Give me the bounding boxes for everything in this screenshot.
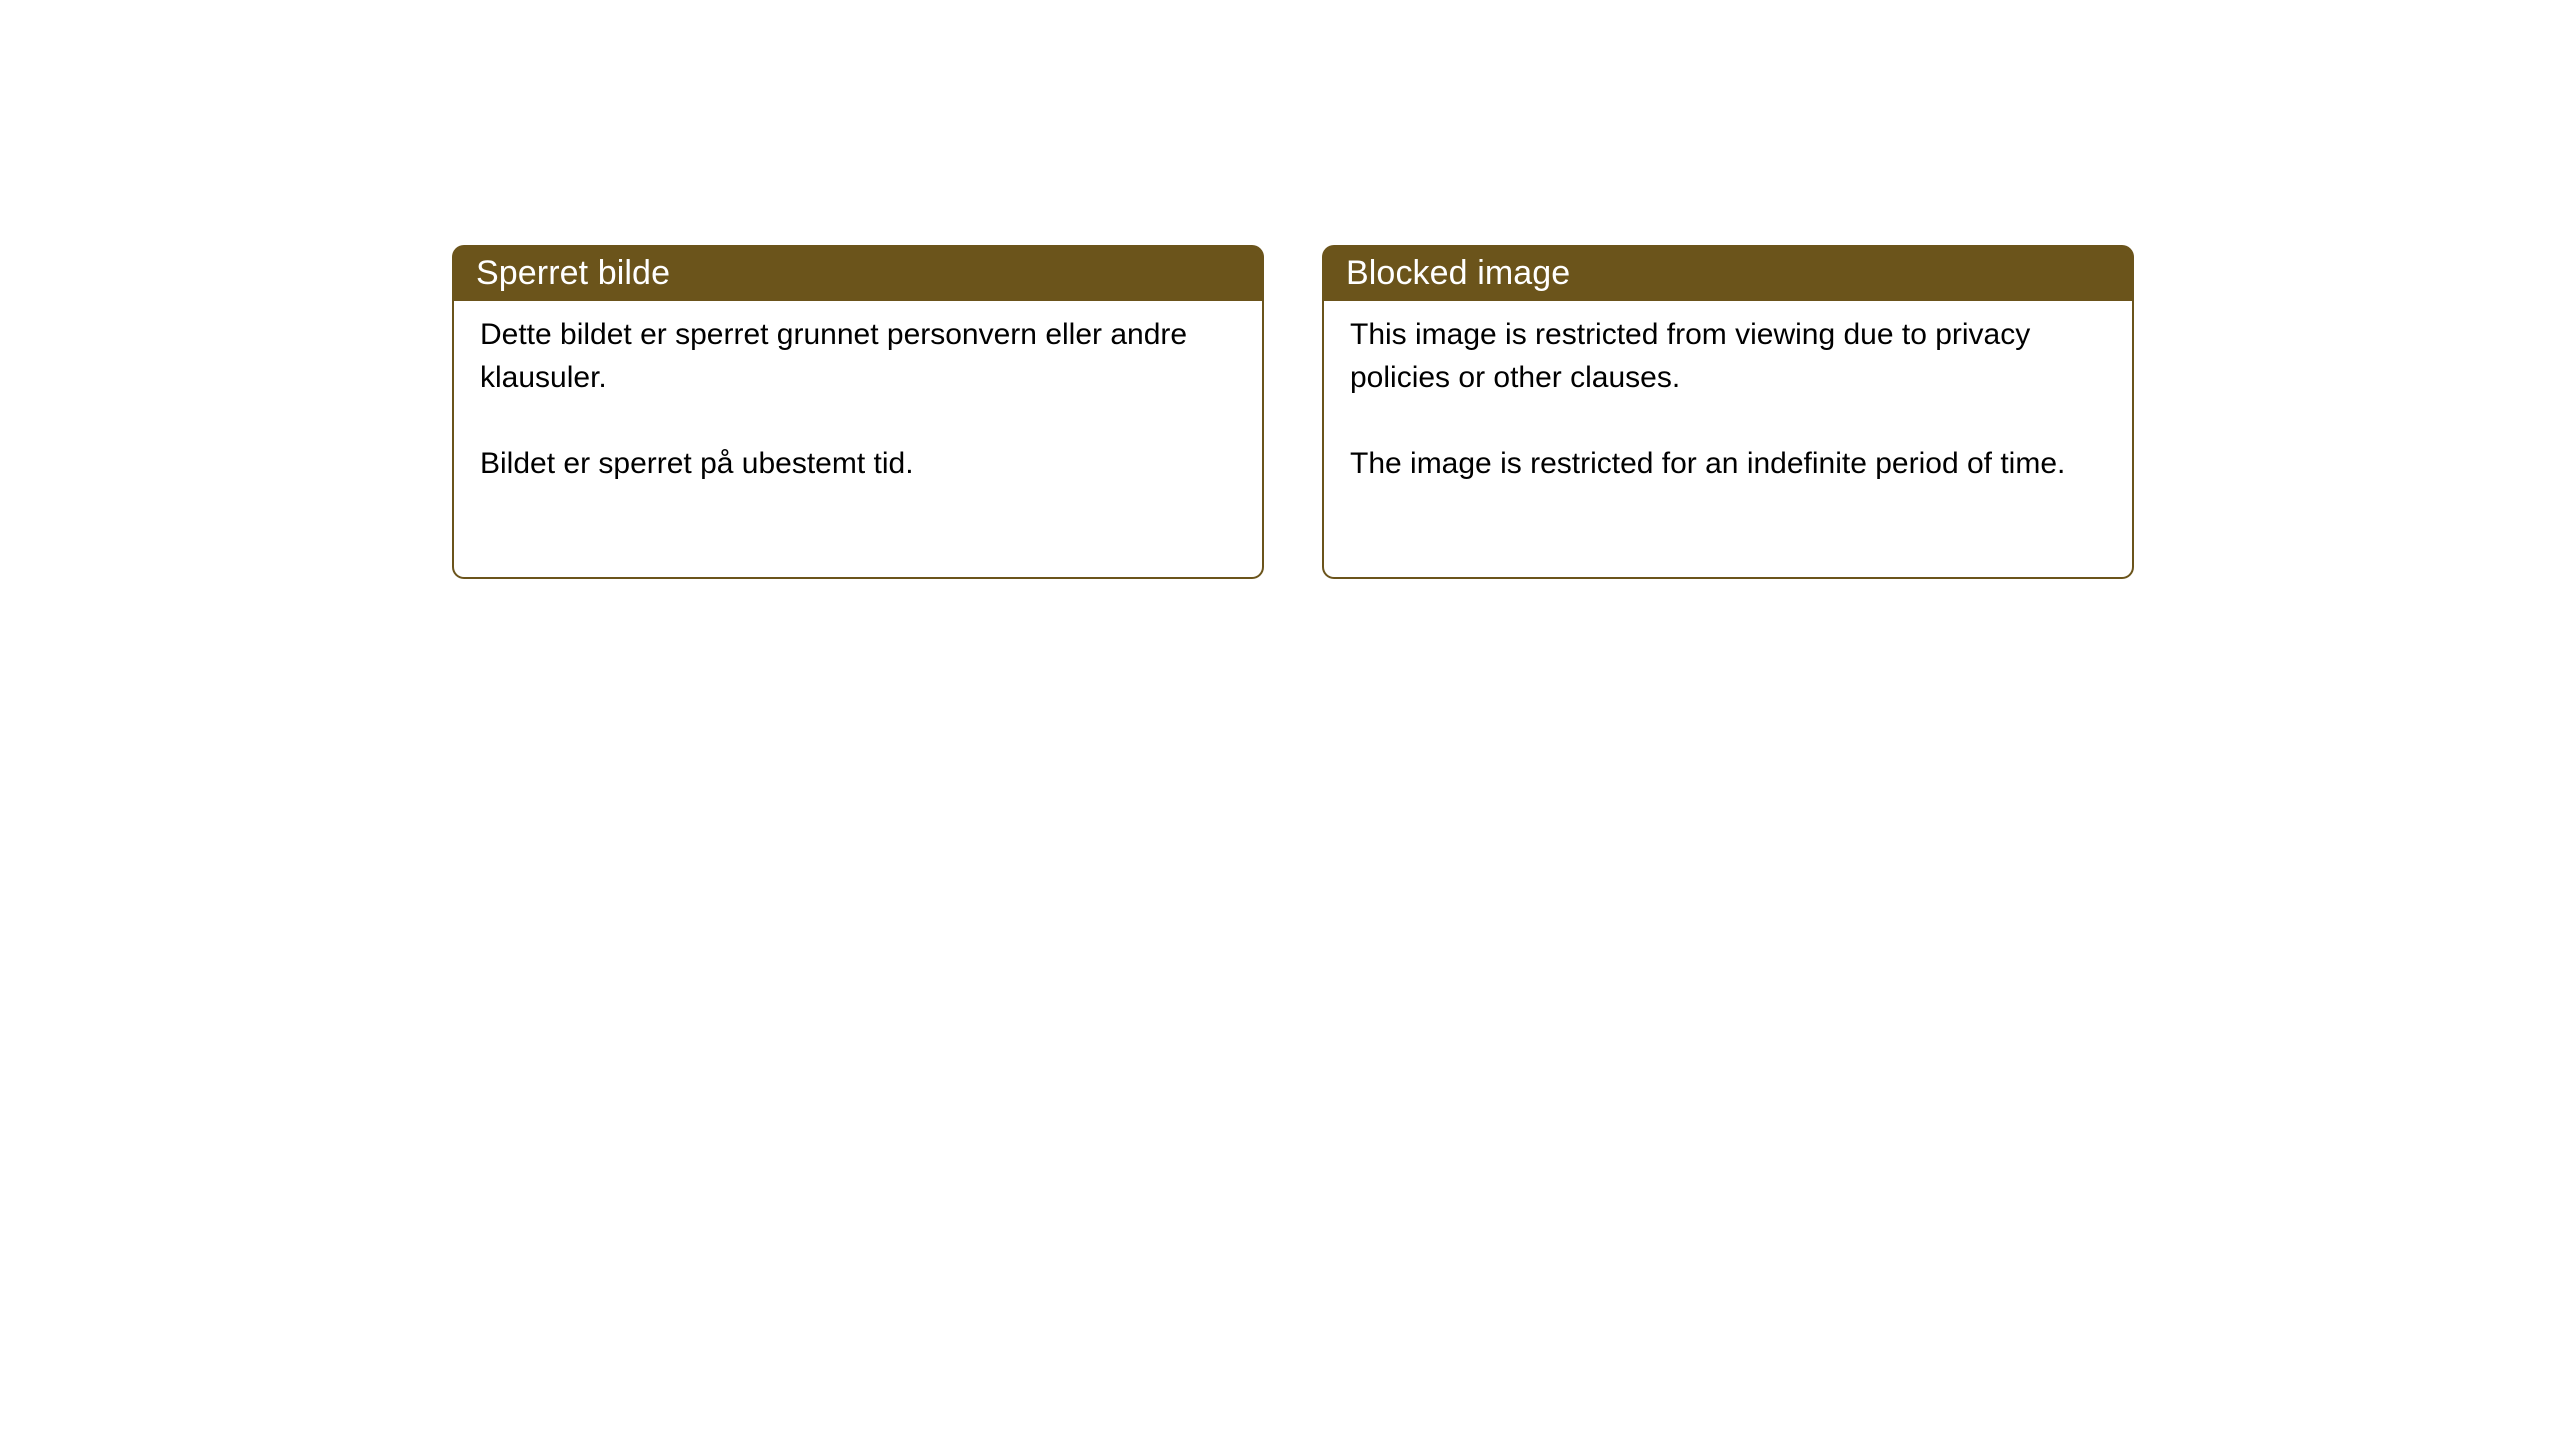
card-header-norwegian: Sperret bilde xyxy=(452,245,1264,301)
card-paragraph-secondary-english: The image is restricted for an indefinit… xyxy=(1350,442,2108,485)
blocked-image-notice-area: Sperret bilde Dette bildet er sperret gr… xyxy=(0,0,2560,1440)
blocked-image-card-norwegian: Sperret bilde Dette bildet er sperret gr… xyxy=(452,245,1264,579)
card-header-english: Blocked image xyxy=(1322,245,2134,301)
card-body-english: This image is restricted from viewing du… xyxy=(1322,297,2134,579)
card-paragraph-primary-english: This image is restricted from viewing du… xyxy=(1350,313,2108,399)
card-title-english: Blocked image xyxy=(1322,256,1570,290)
card-body-norwegian: Dette bildet er sperret grunnet personve… xyxy=(452,297,1264,579)
card-title-norwegian: Sperret bilde xyxy=(452,256,670,290)
card-paragraph-secondary-norwegian: Bildet er sperret på ubestemt tid. xyxy=(480,442,1238,485)
card-paragraph-primary-norwegian: Dette bildet er sperret grunnet personve… xyxy=(480,313,1238,399)
blocked-image-card-english: Blocked image This image is restricted f… xyxy=(1322,245,2134,579)
